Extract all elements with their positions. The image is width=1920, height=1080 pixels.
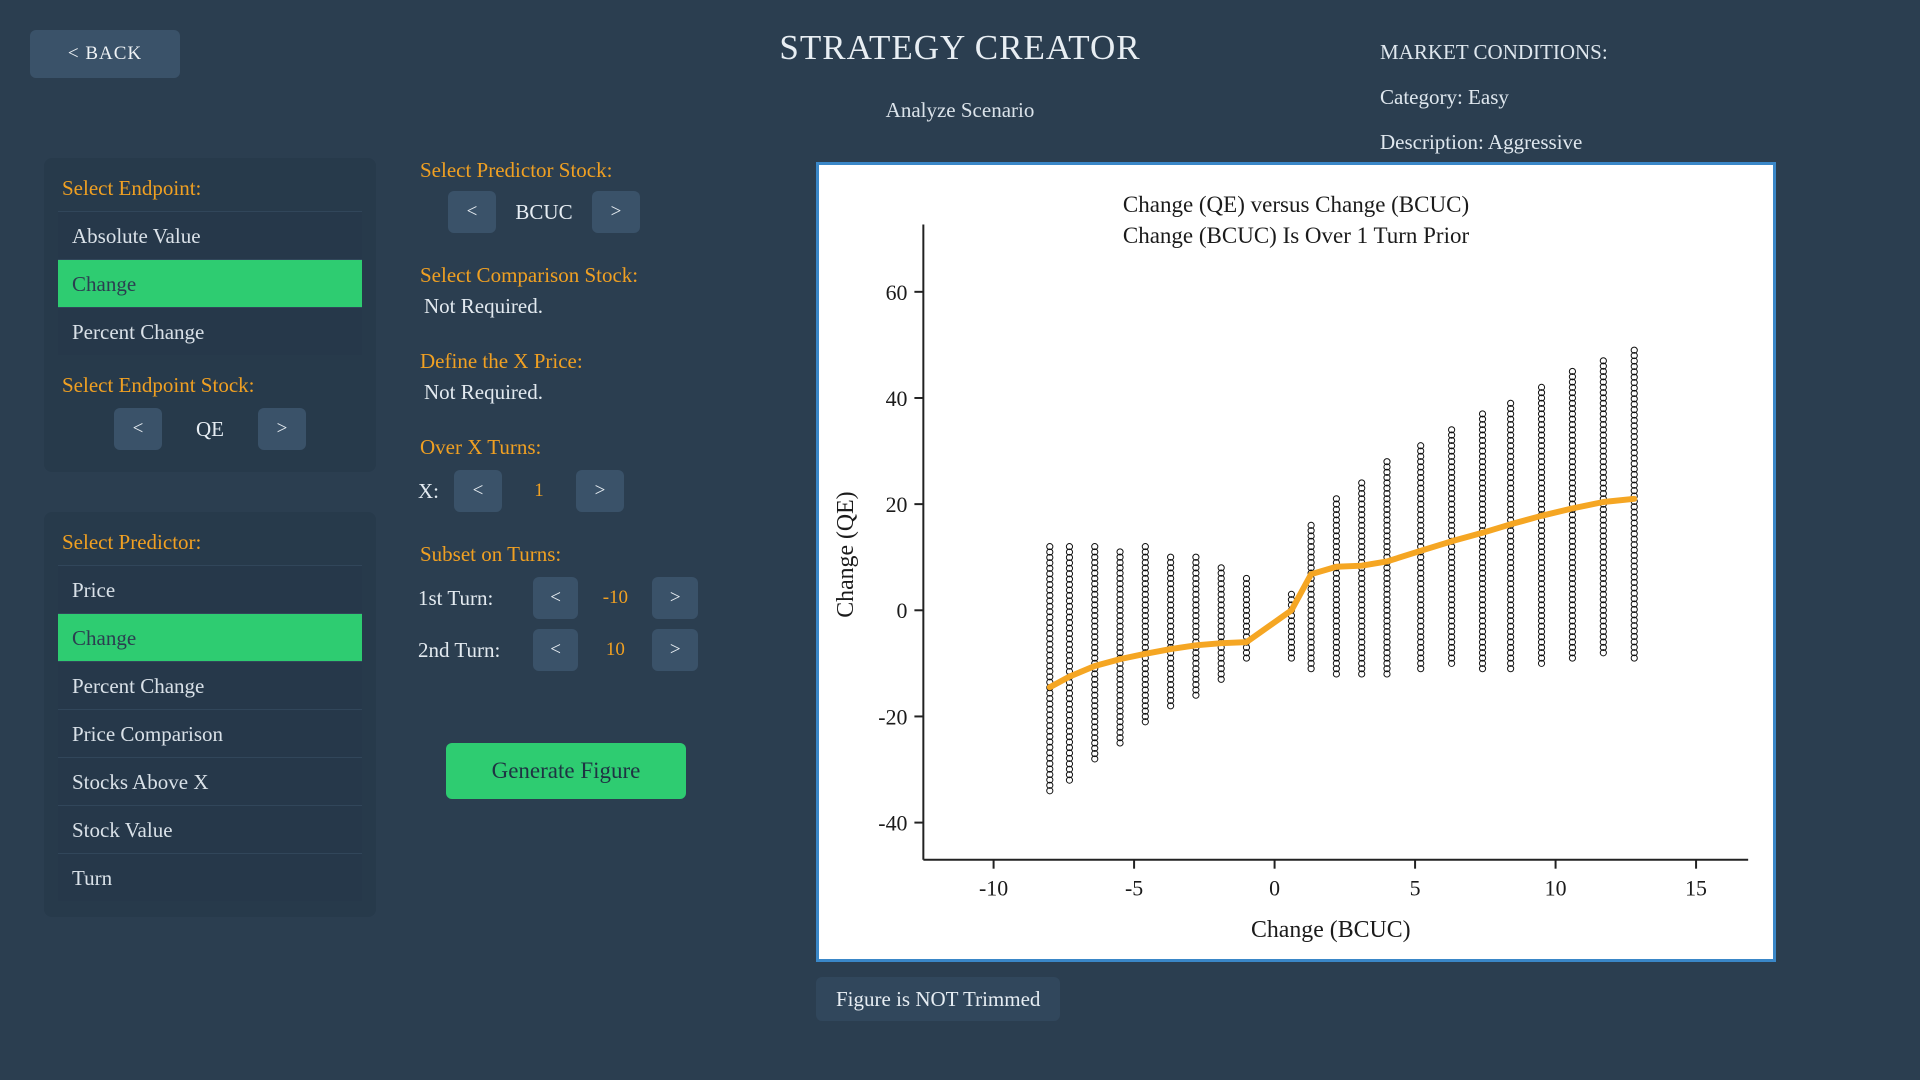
endpoint-panel: Select Endpoint: Absolute Value Change P… — [44, 158, 376, 472]
over-x-turns-next-button[interactable]: > — [576, 470, 624, 512]
select-predictor-stock-label: Select Predictor Stock: — [420, 158, 698, 183]
market-conditions-heading: MARKET CONDITIONS: — [1380, 30, 1710, 75]
second-turn-value: 10 — [592, 639, 638, 661]
svg-text:-20: -20 — [878, 705, 907, 729]
comparison-stock-value: Not Required. — [424, 294, 698, 319]
predictor-option-turn[interactable]: Turn — [58, 853, 362, 901]
over-x-turns-prev-button[interactable]: < — [454, 470, 502, 512]
predictor-option-list: Price Change Percent Change Price Compar… — [58, 565, 362, 901]
middle-controls: Select Predictor Stock: < BCUC > Select … — [418, 158, 698, 799]
svg-text:60: 60 — [886, 281, 908, 305]
over-x-turns-block: Over X Turns: X: < 1 > — [418, 435, 698, 512]
endpoint-stock-next-button[interactable]: > — [258, 408, 306, 450]
first-turn-label: 1st Turn: — [418, 586, 519, 611]
market-conditions: MARKET CONDITIONS: Category: Easy Descri… — [1380, 30, 1710, 165]
subset-on-turns-block: Subset on Turns: 1st Turn: < -10 > 2nd T… — [418, 542, 698, 671]
strategy-creator-app: < BACK STRATEGY CREATOR Analyze Scenario… — [0, 0, 1920, 1080]
svg-text:-5: -5 — [1125, 876, 1143, 900]
svg-text:0: 0 — [897, 599, 908, 623]
first-turn-next-button[interactable]: > — [652, 577, 698, 619]
svg-text:-10: -10 — [979, 876, 1008, 900]
predictor-stock-prev-button[interactable]: < — [448, 191, 496, 233]
endpoint-option-change[interactable]: Change — [58, 259, 362, 307]
define-x-price-label: Define the X Price: — [420, 349, 698, 374]
endpoint-stock-stepper: < QE > — [58, 408, 362, 450]
predictor-option-price-comparison[interactable]: Price Comparison — [58, 709, 362, 757]
svg-text:10: 10 — [1545, 876, 1567, 900]
endpoint-stock-prev-button[interactable]: < — [114, 408, 162, 450]
select-comparison-stock-label: Select Comparison Stock: — [420, 263, 698, 288]
predictor-stock-value: BCUC — [496, 200, 592, 225]
svg-text:40: 40 — [886, 387, 908, 411]
over-x-turns-label: Over X Turns: — [420, 435, 698, 460]
select-endpoint-stock-label: Select Endpoint Stock: — [62, 373, 362, 398]
market-category: Category: Easy — [1380, 75, 1710, 120]
x-price-value: Not Required. — [424, 380, 698, 405]
x-price-block: Define the X Price: Not Required. — [418, 349, 698, 405]
svg-text:5: 5 — [1410, 876, 1421, 900]
svg-text:Change (BCUC): Change (BCUC) — [1251, 917, 1411, 943]
comparison-stock-block: Select Comparison Stock: Not Required. — [418, 263, 698, 319]
select-endpoint-label: Select Endpoint: — [62, 176, 362, 201]
endpoint-option-list: Absolute Value Change Percent Change — [58, 211, 362, 355]
market-description: Description: Aggressive — [1380, 120, 1710, 165]
first-turn-prev-button[interactable]: < — [533, 577, 579, 619]
predictor-option-change[interactable]: Change — [58, 613, 362, 661]
over-x-turns-stepper: X: < 1 > — [418, 470, 698, 512]
x-row-label: X: — [418, 479, 440, 504]
predictor-option-stock-value[interactable]: Stock Value — [58, 805, 362, 853]
over-x-turns-value: 1 — [516, 480, 562, 502]
second-turn-label: 2nd Turn: — [418, 638, 519, 663]
generate-figure-button[interactable]: Generate Figure — [446, 743, 686, 799]
first-turn-stepper: 1st Turn: < -10 > — [418, 577, 698, 619]
predictor-option-percent-change[interactable]: Percent Change — [58, 661, 362, 709]
svg-text:Change (QE): Change (QE) — [833, 491, 859, 617]
predictor-stock-stepper: < BCUC > — [448, 191, 698, 233]
predictor-stock-next-button[interactable]: > — [592, 191, 640, 233]
figure-panel: Change (QE) versus Change (BCUC) Change … — [816, 162, 1776, 962]
second-turn-prev-button[interactable]: < — [533, 629, 579, 671]
predictor-panel: Select Predictor: Price Change Percent C… — [44, 512, 376, 917]
predictor-option-stocks-above-x[interactable]: Stocks Above X — [58, 757, 362, 805]
svg-text:-40: -40 — [878, 812, 907, 836]
scatter-chart: -40-200204060-10-5051015Change (BCUC)Cha… — [819, 165, 1773, 959]
predictor-option-price[interactable]: Price — [58, 565, 362, 613]
svg-text:0: 0 — [1269, 876, 1280, 900]
subset-on-turns-label: Subset on Turns: — [420, 542, 698, 567]
endpoint-option-absolute-value[interactable]: Absolute Value — [58, 211, 362, 259]
endpoint-option-percent-change[interactable]: Percent Change — [58, 307, 362, 355]
svg-text:20: 20 — [886, 493, 908, 517]
endpoint-stock-value: QE — [162, 417, 258, 442]
second-turn-next-button[interactable]: > — [652, 629, 698, 671]
predictor-stock-block: Select Predictor Stock: < BCUC > — [418, 158, 698, 233]
second-turn-stepper: 2nd Turn: < 10 > — [418, 629, 698, 671]
trim-status-badge: Figure is NOT Trimmed — [816, 977, 1060, 1021]
svg-text:15: 15 — [1685, 876, 1707, 900]
select-predictor-label: Select Predictor: — [62, 530, 362, 555]
first-turn-value: -10 — [592, 587, 638, 609]
